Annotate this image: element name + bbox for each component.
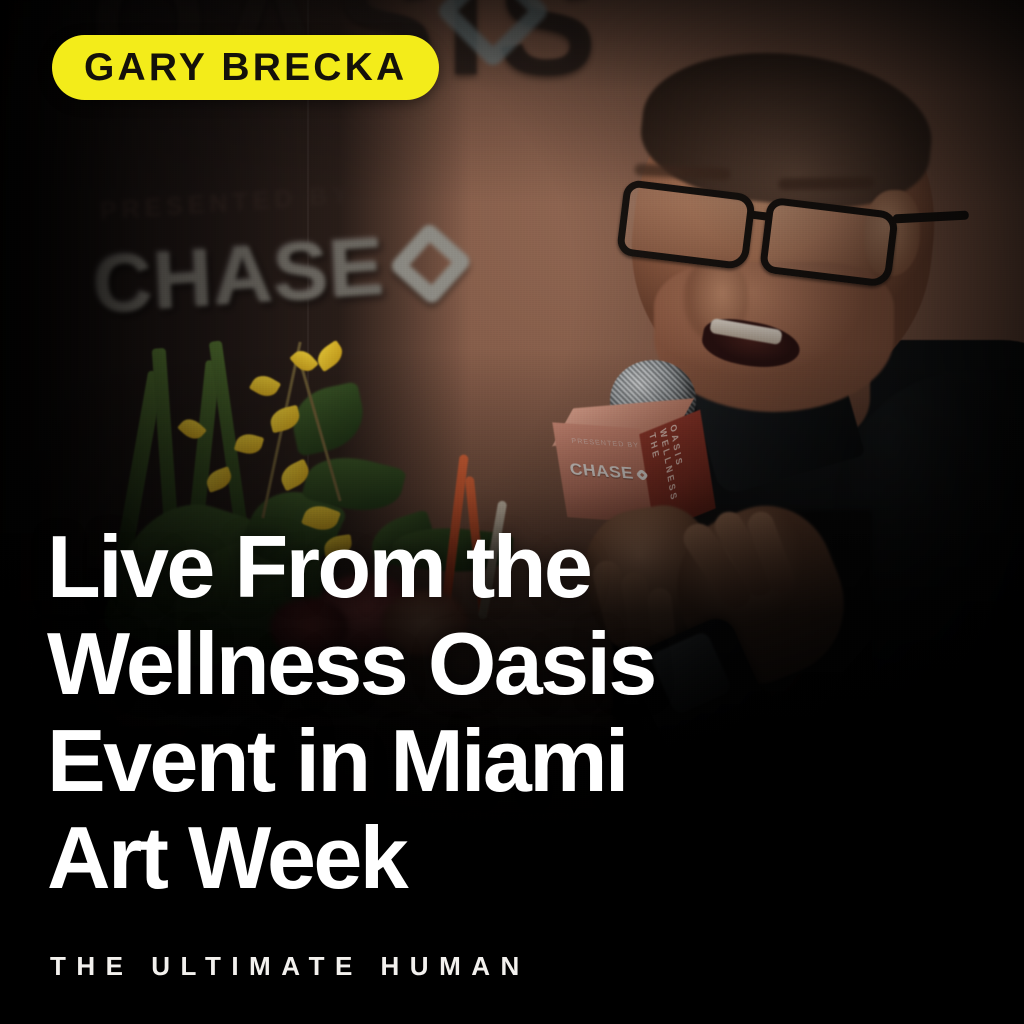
episode-title-line-4: Art Week (47, 809, 687, 906)
glasses-temple (893, 211, 969, 224)
lens-right (759, 197, 899, 289)
episode-promo-card: OASIS PRESENTED BY CHASE (0, 0, 1024, 1024)
episode-title: Live From the Wellness Oasis Event in Mi… (47, 518, 687, 906)
guest-name-badge: GARY BRECKA (52, 35, 439, 100)
guest-name-label: GARY BRECKA (84, 48, 407, 87)
sign-brand-word: CHASE (91, 220, 387, 333)
lens-left (616, 179, 756, 271)
episode-title-line-2: Wellness Oasis (47, 615, 687, 712)
episode-title-line-1: Live From the (47, 518, 687, 615)
episode-title-line-3: Event in Miami (47, 712, 687, 809)
backdrop-chase-sign: PRESENTED BY CHASE (89, 174, 462, 333)
show-brand-label: THE ULTIMATE HUMAN (50, 951, 530, 982)
